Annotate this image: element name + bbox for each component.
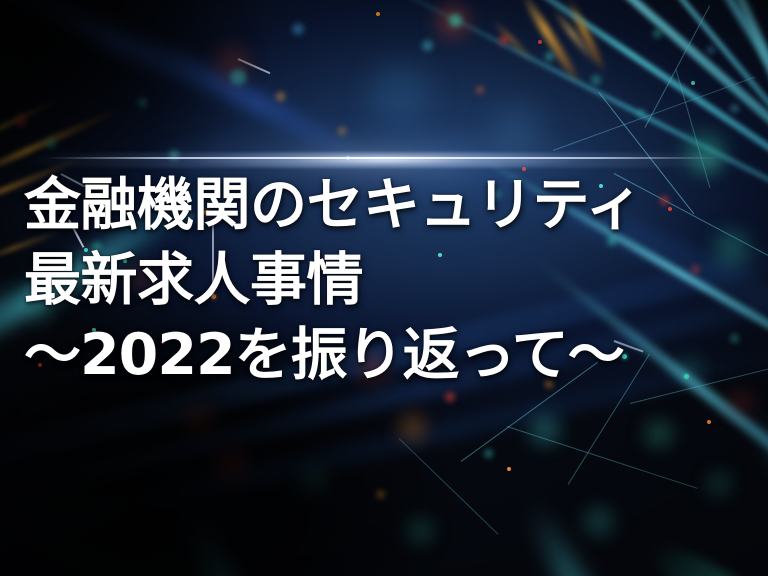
title-line-1: 金融機関のセキュリティ <box>24 168 744 243</box>
lens-flare-line <box>46 157 722 159</box>
title-line-2: 最新求人事情 <box>24 243 744 318</box>
banner-image: 金融機関のセキュリティ 最新求人事情 〜2022を振り返って〜 <box>0 0 768 576</box>
title-line-3: 〜2022を振り返って〜 <box>24 318 744 393</box>
lens-flare-band <box>15 152 752 168</box>
banner-title: 金融機関のセキュリティ 最新求人事情 〜2022を振り返って〜 <box>24 168 744 393</box>
